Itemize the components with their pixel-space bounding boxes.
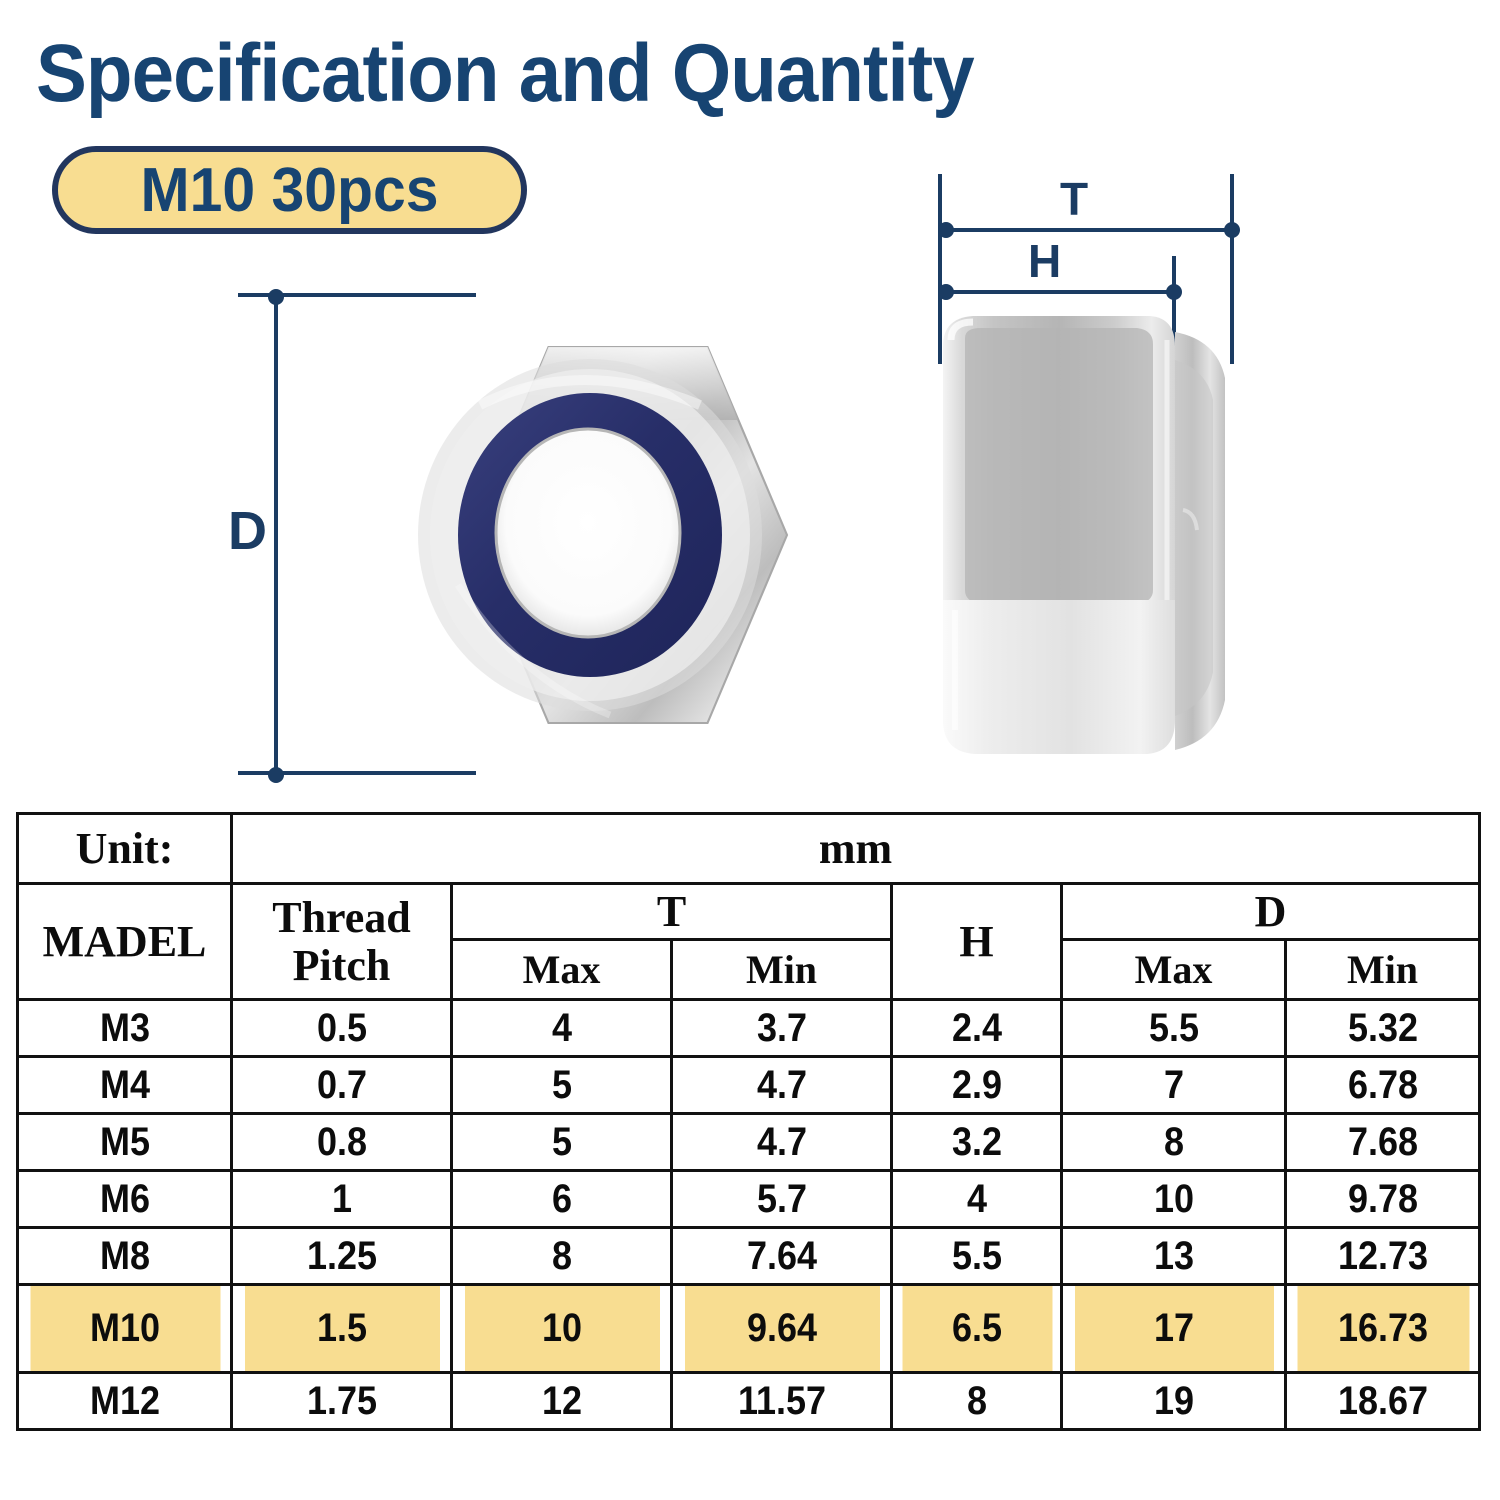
cell-pitch: 0.8 [243,1114,441,1171]
header-model: MADEL [18,884,232,1000]
cell-d-min: 12.73 [1295,1228,1470,1285]
cell-t-min: 9.64 [683,1285,881,1373]
cell-h: 8 [900,1373,1053,1430]
table-row-highlighted[interactable]: M10 1.5 10 9.64 6.5 17 16.73 [18,1285,1480,1373]
cell-model: M8 [28,1228,221,1285]
cell-t-max: 8 [463,1228,661,1285]
cell-t-min: 11.57 [683,1373,881,1430]
cell-pitch: 0.5 [243,1000,441,1057]
cell-d-min: 6.78 [1295,1057,1470,1114]
cell-h: 6.5 [900,1285,1053,1373]
table-row[interactable]: M5 0.8 5 4.7 3.2 8 7.68 [18,1114,1480,1171]
cell-d-min: 16.73 [1295,1285,1470,1373]
cell-model: M6 [28,1171,221,1228]
page-title: Specification and Quantity [36,28,974,120]
dimension-h-dot-left [938,284,954,300]
table-unit-row: Unit: mm [18,814,1480,884]
table-row[interactable]: M3 0.5 4 3.7 2.4 5.5 5.32 [18,1000,1480,1057]
cell-h: 5.5 [900,1228,1053,1285]
header-thread-pitch-line2: Pitch [233,942,450,990]
cell-model: M12 [28,1373,221,1430]
unit-value-cell: mm [232,814,1480,884]
cell-t-min: 4.7 [683,1114,881,1171]
cell-pitch: 1 [243,1171,441,1228]
cell-t-min: 4.7 [683,1057,881,1114]
dimension-t-dot-left [938,222,954,238]
header-h: H [892,884,1062,1000]
cell-d-min: 9.78 [1295,1171,1470,1228]
cell-d-max: 10 [1073,1171,1275,1228]
specification-table-container: Unit: mm MADEL Thread Pitch T H D Max Mi… [16,812,1478,1431]
dimension-t-line [944,228,1232,232]
table-row[interactable]: M12 1.75 12 11.57 8 19 18.67 [18,1373,1480,1430]
cell-t-max: 10 [463,1285,661,1373]
header-t-max: Max [452,940,672,1000]
cell-d-min: 18.67 [1295,1373,1470,1430]
cell-d-max: 5.5 [1073,1000,1275,1057]
hex-lock-nut-side-view [925,300,1265,790]
header-d: D [1062,884,1480,940]
hex-lock-nut-front-view [280,285,840,785]
cell-t-max: 5 [463,1057,661,1114]
hex-nut-front-svg [280,285,840,785]
table-row[interactable]: M4 0.7 5 4.7 2.9 7 6.78 [18,1057,1480,1114]
header-d-max: Max [1062,940,1286,1000]
cell-pitch: 0.7 [243,1057,441,1114]
cell-model: M4 [28,1057,221,1114]
cell-model: M10 [28,1285,221,1373]
cell-pitch: 1.5 [243,1285,441,1373]
header-thread-pitch-line1: Thread [233,894,450,942]
cell-d-min: 5.32 [1295,1000,1470,1057]
cell-d-max: 8 [1073,1114,1275,1171]
table-header-row-1: MADEL Thread Pitch T H D [18,884,1480,940]
cell-d-max: 19 [1073,1373,1275,1430]
dimension-h-line [944,290,1176,294]
product-figures: D [0,150,1500,800]
cell-d-max: 17 [1073,1285,1275,1373]
header-t: T [452,884,892,940]
cell-h: 3.2 [900,1114,1053,1171]
dimension-d-label: D [228,500,267,562]
header-d-min: Min [1286,940,1480,1000]
cell-h: 2.9 [900,1057,1053,1114]
cell-t-min: 5.7 [683,1171,881,1228]
cell-t-max: 4 [463,1000,661,1057]
cell-d-max: 7 [1073,1057,1275,1114]
cell-t-min: 7.64 [683,1228,881,1285]
header-t-min: Min [672,940,892,1000]
table-row[interactable]: M6 1 6 5.7 4 10 9.78 [18,1171,1480,1228]
cell-h: 2.4 [900,1000,1053,1057]
table-row[interactable]: M8 1.25 8 7.64 5.5 13 12.73 [18,1228,1480,1285]
cell-t-min: 3.7 [683,1000,881,1057]
dimension-h-dot-right [1166,284,1182,300]
dimension-d-line [274,295,278,775]
cell-model: M5 [28,1114,221,1171]
dimension-h-label: H [1028,234,1061,288]
cell-h: 4 [900,1171,1053,1228]
header-thread-pitch: Thread Pitch [232,884,452,1000]
cell-d-min: 7.68 [1295,1114,1470,1171]
dimension-t-label: T [1060,172,1088,226]
cell-t-max: 5 [463,1114,661,1171]
cell-model: M3 [28,1000,221,1057]
dimension-t-dot-right [1224,222,1240,238]
hex-nut-side-svg [925,300,1265,790]
cell-pitch: 1.25 [243,1228,441,1285]
cell-t-max: 6 [463,1171,661,1228]
unit-label-cell: Unit: [18,814,232,884]
cell-t-max: 12 [463,1373,661,1430]
cell-pitch: 1.75 [243,1373,441,1430]
specification-table: Unit: mm MADEL Thread Pitch T H D Max Mi… [16,812,1481,1431]
cell-d-max: 13 [1073,1228,1275,1285]
